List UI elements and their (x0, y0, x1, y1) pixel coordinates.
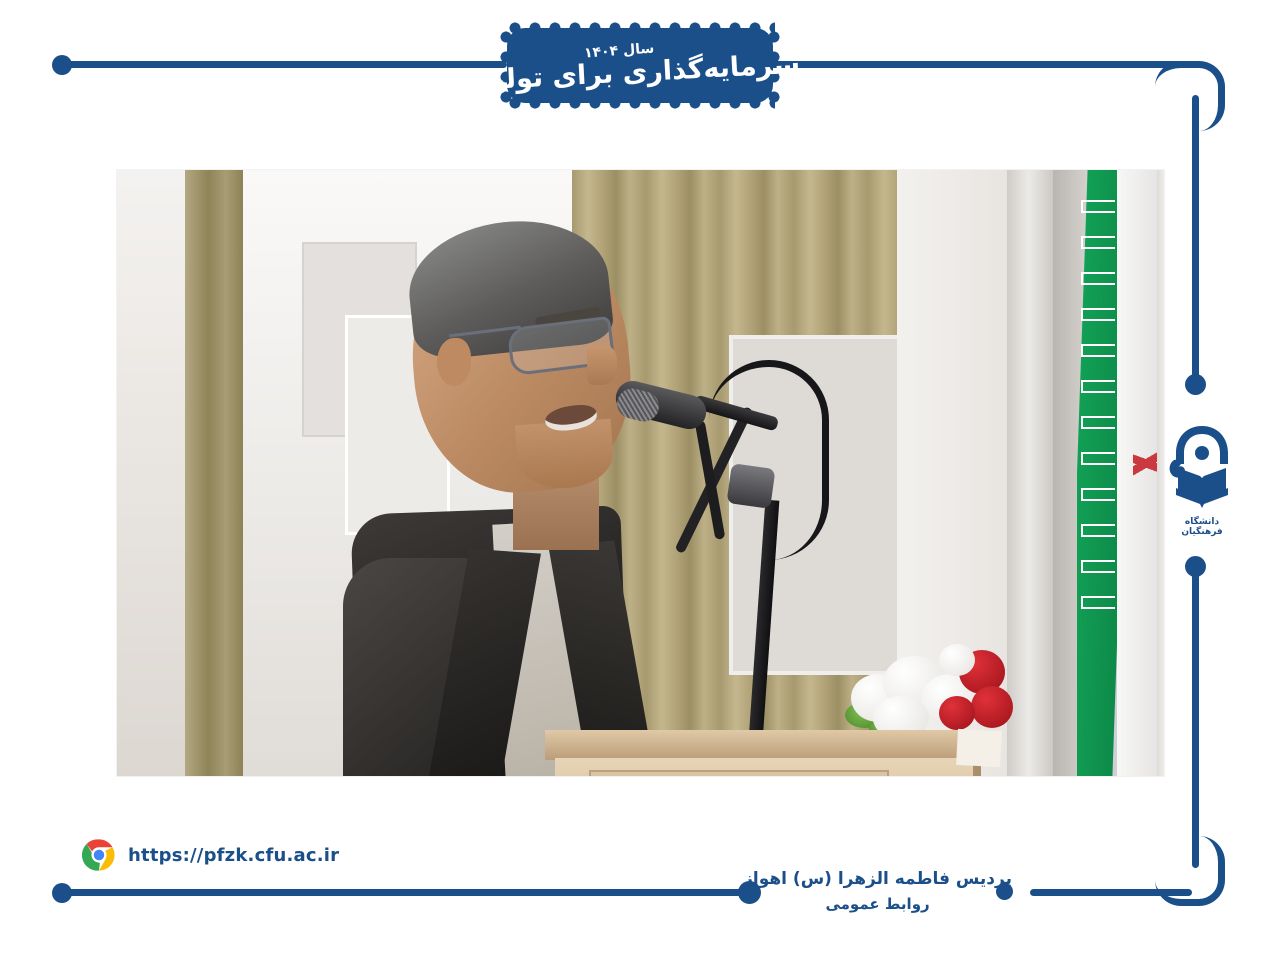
flag-kufic-2 (1081, 236, 1115, 249)
photo-speaker-nose (587, 345, 617, 385)
frame-right-lower-line (1192, 566, 1199, 868)
frame-bottom-left-dot (52, 883, 72, 903)
flag-emblem (1133, 428, 1159, 498)
flower-red-3 (939, 696, 975, 730)
farhangian-logo-mark (1166, 420, 1238, 516)
frame-bottom-line (62, 889, 752, 896)
flower-red-2 (971, 686, 1013, 728)
frame-top-right-line (770, 61, 1190, 68)
university-logo: دانشگاه فرهنگیان (1166, 420, 1238, 550)
organization-name: پردیس فاطمه الزهرا (س) اهواز (743, 869, 1012, 889)
event-photograph (117, 170, 1164, 776)
flag-kufic-11 (1081, 560, 1115, 573)
website-url-text: https://pfzk.cfu.ac.ir (128, 845, 339, 866)
flag-kufic-9 (1081, 488, 1115, 501)
photo-microphone-mount (726, 463, 775, 509)
flower-white-5 (939, 644, 975, 676)
university-logo-caption: دانشگاه فرهنگیان (1166, 517, 1238, 537)
photo-podium-paper (956, 729, 1002, 767)
flag-kufic-10 (1081, 524, 1115, 537)
slogan-banner: سال ۱۴۰۴ سرمایه‌گذاری برای تولید (497, 19, 783, 112)
frame-top-left-dot (52, 55, 72, 75)
chrome-icon (82, 838, 116, 872)
flag-kufic-12 (1081, 596, 1115, 609)
organization-department: روابط عمومی (743, 895, 1012, 913)
flag-kufic-5 (1081, 344, 1115, 357)
photo-podium-top (545, 730, 973, 760)
flag-kufic-6 (1081, 380, 1115, 393)
photo-right-edge (1157, 170, 1164, 776)
frame-corner-top-right (1155, 61, 1225, 131)
flag-kufic-3 (1081, 272, 1115, 285)
photo-podium-panel (589, 770, 889, 776)
flag-kufic-4 (1081, 308, 1115, 321)
organization-credit: پردیس فاطمه الزهرا (س) اهواز روابط عمومی (743, 869, 1012, 913)
frame-right-upper-dot (1185, 374, 1206, 395)
iranian-flag (1077, 170, 1164, 776)
banner-text-group: سال ۱۴۰۴ سرمایه‌گذاری برای تولید (497, 19, 783, 112)
frame-bottom-right-line (1030, 889, 1192, 896)
website-link[interactable]: https://pfzk.cfu.ac.ir (82, 838, 339, 872)
flag-kufic-7 (1081, 416, 1115, 429)
flag-kufic-1 (1081, 200, 1115, 213)
photo-speaker-ear (437, 338, 471, 386)
frame-right-upper-line (1192, 95, 1199, 383)
frame-top-left-line (62, 61, 507, 68)
flag-kufic-8 (1081, 452, 1115, 465)
poster-canvas: سال ۱۴۰۴ سرمایه‌گذاری برای تولید (0, 0, 1280, 959)
photo-curtain-left (185, 170, 243, 776)
